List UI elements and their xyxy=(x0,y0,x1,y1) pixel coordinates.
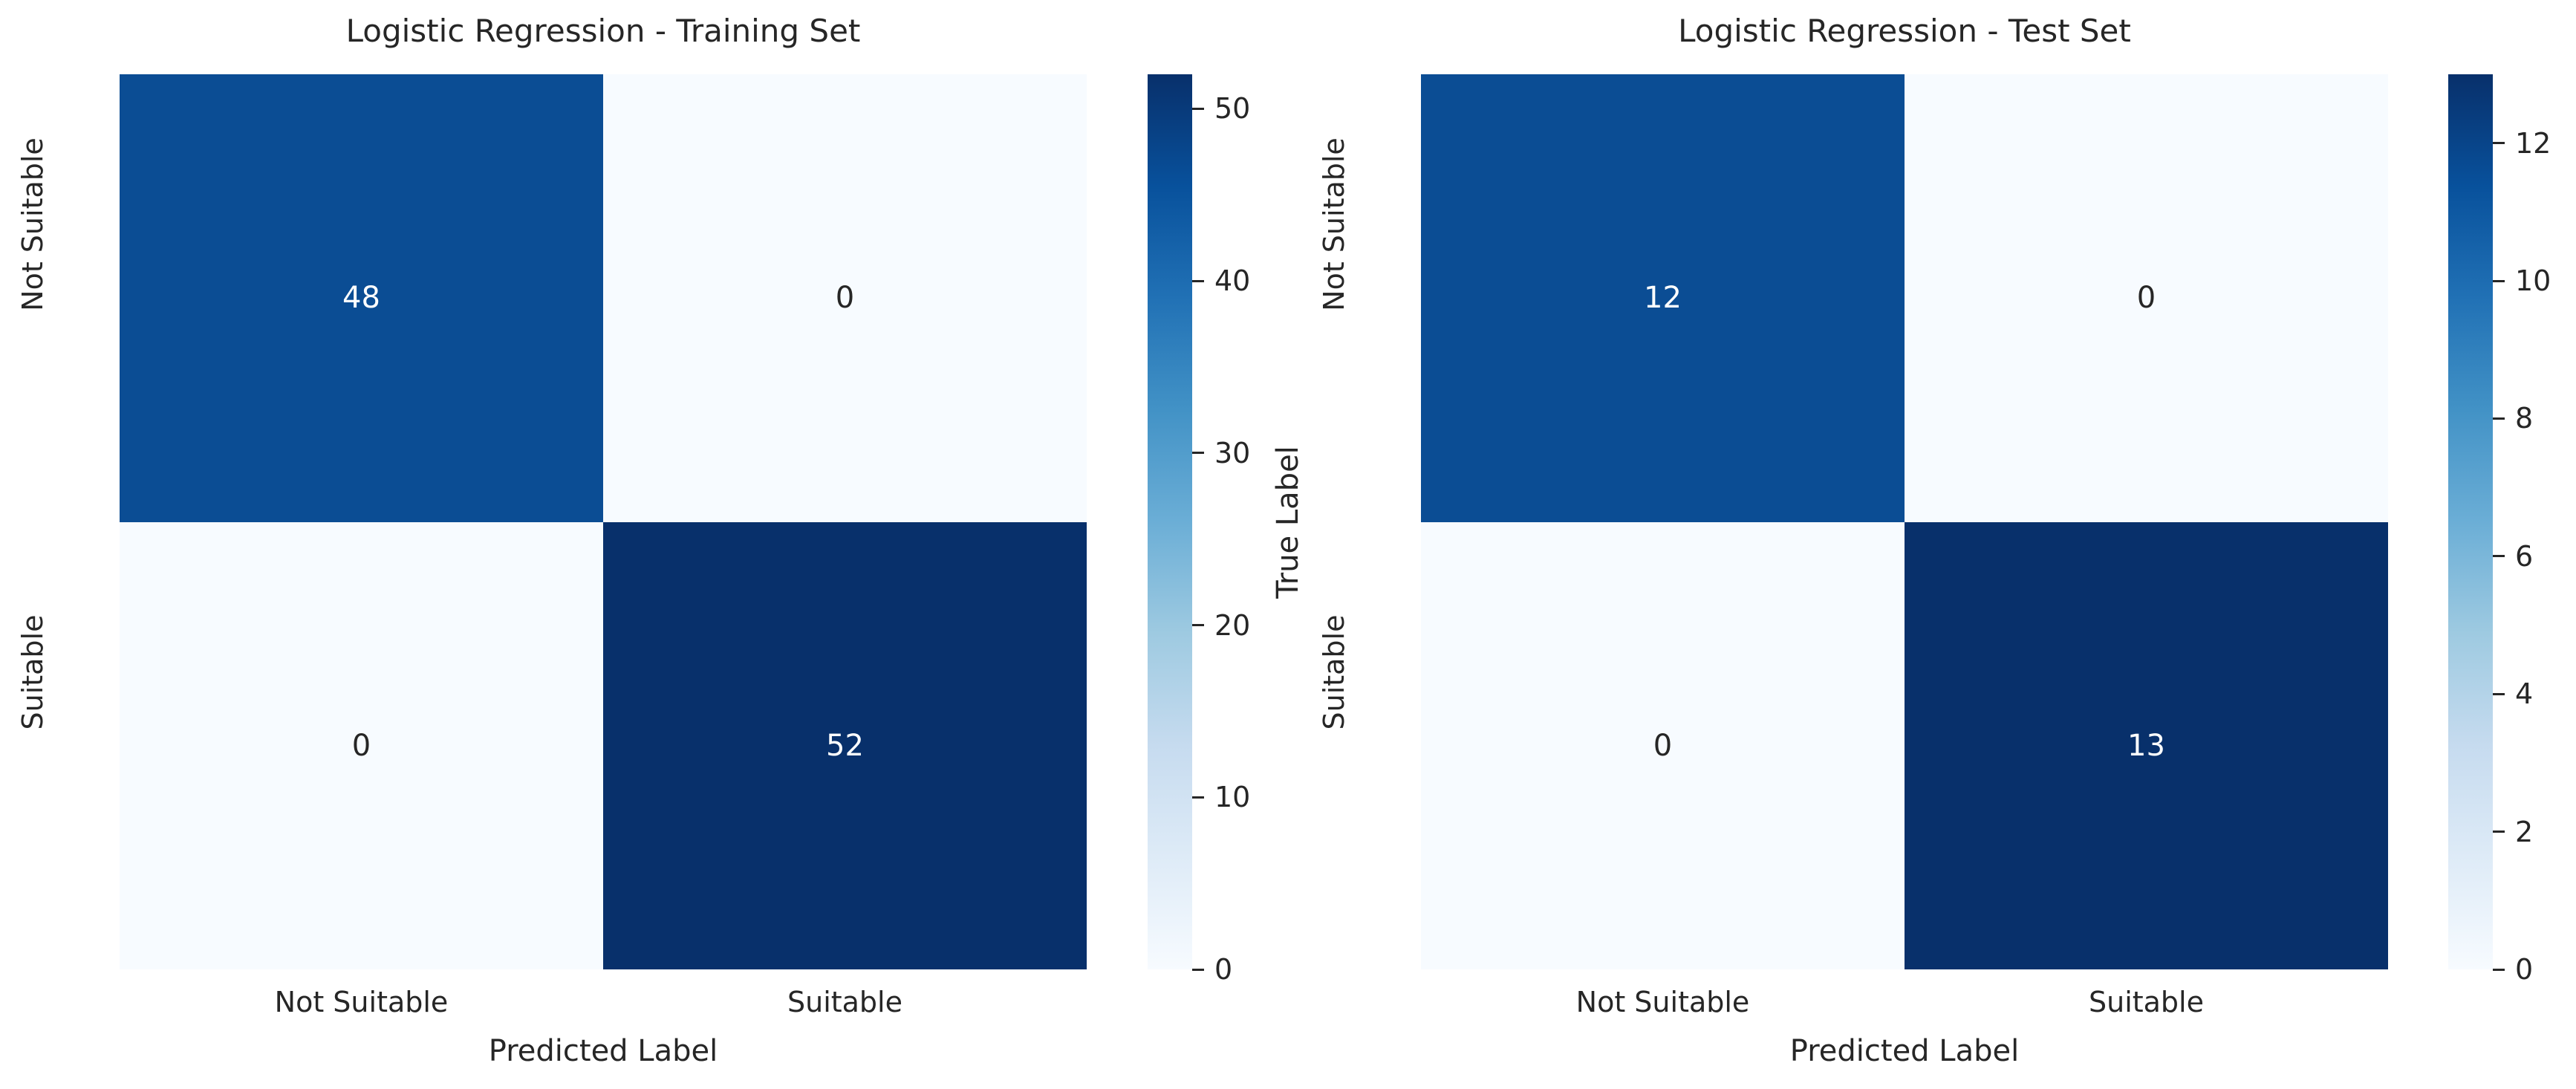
cell-value: 12 xyxy=(1644,283,1682,313)
confusion-matrix-heatmap: 12 0 0 13 xyxy=(1421,74,2388,969)
colorbar-tick-dash-icon xyxy=(2493,830,2505,833)
cell-value: 0 xyxy=(836,283,854,313)
colorbar-tick-label: 4 xyxy=(2515,677,2533,710)
y-tick-label-1: Suitable xyxy=(16,531,49,813)
colorbar-tick-dash-icon xyxy=(1192,624,1204,626)
matrix-cell-0-1[interactable]: 0 xyxy=(603,74,1087,522)
cell-value: 0 xyxy=(352,731,371,761)
panel-test-set: Logistic Regression - Test Set 12 0 0 13… xyxy=(1288,0,2576,1089)
y-axis-label: True Label xyxy=(0,344,5,700)
colorbar-tick: 0 xyxy=(1192,953,1232,986)
matrix-cell-1-1[interactable]: 52 xyxy=(603,522,1087,970)
x-tick-label-1: Suitable xyxy=(1905,984,2388,1020)
colorbar-tick: 50 xyxy=(1192,92,1250,125)
colorbar-tick-dash-icon xyxy=(1192,280,1204,282)
colorbar-tick: 20 xyxy=(1192,609,1250,642)
x-axis-label: Predicted Label xyxy=(120,1033,1087,1070)
x-tick-label-0: Not Suitable xyxy=(1421,984,1905,1020)
colorbar-tick-label: 0 xyxy=(1214,953,1232,986)
x-tick-label-0: Not Suitable xyxy=(120,984,603,1020)
cell-value: 48 xyxy=(342,283,380,313)
panel-title: Logistic Regression - Training Set xyxy=(120,10,1087,52)
colorbar-tick-dash-icon xyxy=(2493,142,2505,144)
x-axis-label: Predicted Label xyxy=(1421,1033,2388,1070)
cell-value: 0 xyxy=(2137,283,2156,313)
colorbar-tick: 30 xyxy=(1192,437,1250,469)
figure-canvas: Logistic Regression - Training Set 48 0 … xyxy=(0,0,2576,1089)
colorbar-tick-label: 30 xyxy=(1214,437,1250,469)
colorbar-tick-dash-icon xyxy=(1192,969,1204,971)
y-axis-label: True Label xyxy=(1269,344,1307,700)
colorbar-tick-label: 20 xyxy=(1214,609,1250,642)
colorbar-tick-dash-icon xyxy=(2493,969,2505,971)
cell-value: 0 xyxy=(1653,731,1672,761)
y-tick-label-0: Not Suitable xyxy=(16,83,49,365)
colorbar-tick-dash-icon xyxy=(2493,417,2505,420)
colorbar-tick-dash-icon xyxy=(1192,796,1204,799)
colorbar-tick: 40 xyxy=(1192,264,1250,297)
colorbar-tick: 10 xyxy=(2493,264,2551,297)
colorbar-tick-label: 0 xyxy=(2515,953,2533,986)
matrix-cell-0-1[interactable]: 0 xyxy=(1905,74,2388,522)
matrix-cell-1-0[interactable]: 0 xyxy=(1421,522,1905,970)
colorbar-tick-label: 50 xyxy=(1214,92,1250,125)
colorbar: 0 10 20 30 40 50 xyxy=(1148,74,1192,969)
cell-value: 13 xyxy=(2127,731,2165,761)
colorbar-tick: 0 xyxy=(2493,953,2533,986)
colorbar-tick-label: 6 xyxy=(2515,540,2533,573)
y-tick-label-0: Not Suitable xyxy=(1318,83,1350,365)
cell-value: 52 xyxy=(826,731,864,761)
colorbar-tick-label: 10 xyxy=(1214,781,1250,813)
colorbar-tick-label: 8 xyxy=(2515,402,2533,435)
confusion-matrix-heatmap: 48 0 0 52 xyxy=(120,74,1087,969)
colorbar-tick-label: 2 xyxy=(2515,816,2533,848)
colorbar-gradient xyxy=(1148,74,1192,969)
colorbar-tick-dash-icon xyxy=(2493,280,2505,282)
colorbar-tick: 8 xyxy=(2493,402,2533,435)
colorbar-tick: 4 xyxy=(2493,677,2533,710)
colorbar-tick-dash-icon xyxy=(1192,108,1204,110)
y-tick-label-1: Suitable xyxy=(1318,531,1350,813)
colorbar-tick-label: 10 xyxy=(2515,264,2551,297)
colorbar-gradient xyxy=(2448,74,2493,969)
colorbar-tick-label: 40 xyxy=(1214,264,1250,297)
matrix-cell-0-0[interactable]: 12 xyxy=(1421,74,1905,522)
colorbar-tick-dash-icon xyxy=(1192,452,1204,454)
colorbar-tick: 6 xyxy=(2493,540,2533,573)
colorbar: 0 2 4 6 8 10 1 xyxy=(2448,74,2493,969)
matrix-cell-0-0[interactable]: 48 xyxy=(120,74,603,522)
x-tick-label-1: Suitable xyxy=(603,984,1087,1020)
colorbar-tick: 12 xyxy=(2493,127,2551,160)
colorbar-tick: 2 xyxy=(2493,816,2533,848)
matrix-cell-1-1[interactable]: 13 xyxy=(1905,522,2388,970)
colorbar-tick: 10 xyxy=(1192,781,1250,813)
colorbar-tick-dash-icon xyxy=(2493,693,2505,695)
panel-training-set: Logistic Regression - Training Set 48 0 … xyxy=(0,0,1288,1089)
panel-title: Logistic Regression - Test Set xyxy=(1421,10,2388,52)
colorbar-tick-label: 12 xyxy=(2515,127,2551,160)
matrix-cell-1-0[interactable]: 0 xyxy=(120,522,603,970)
colorbar-tick-dash-icon xyxy=(2493,555,2505,557)
